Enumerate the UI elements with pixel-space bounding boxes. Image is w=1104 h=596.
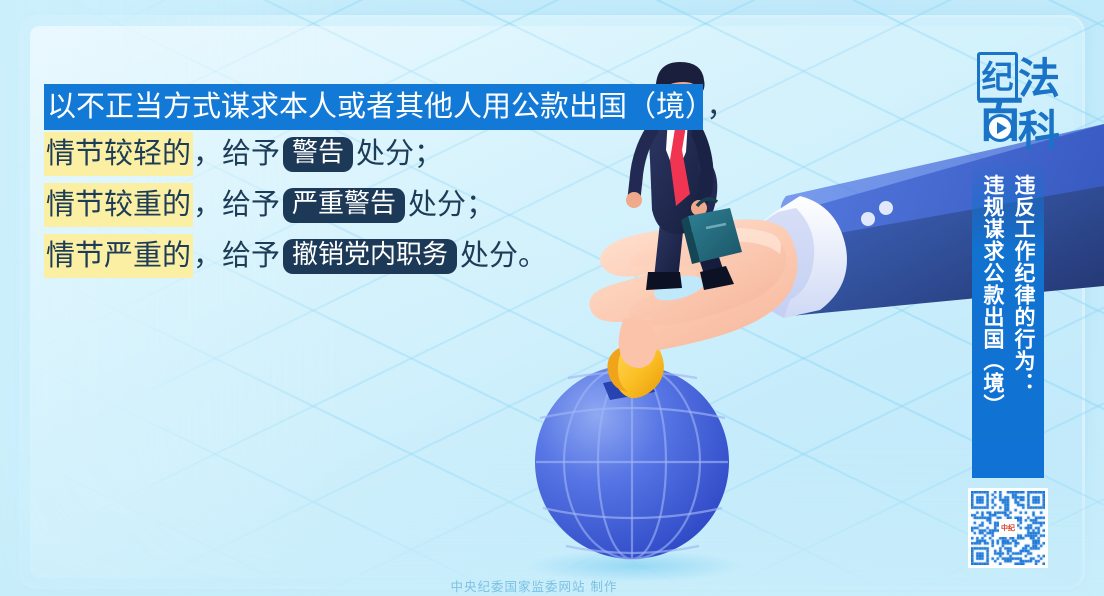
line4-tail: 处分。 [460, 238, 547, 272]
logo-char-fa: 法 [1018, 58, 1060, 100]
qr-seal-icon: 中纪 [999, 519, 1017, 537]
text-line-4: 情节严重的，给予撤销党内职务处分。 [44, 239, 664, 274]
qr-code-matrix: 中纪 [971, 491, 1045, 565]
qr-code[interactable]: 中纪 [968, 488, 1048, 568]
line3-mid: ，给予 [193, 187, 280, 221]
line3-tail: 处分； [408, 187, 495, 221]
vertical-column-topic: 违规谋求公款出国（境） [978, 174, 1007, 470]
main-text-block: 以不正当方式谋求本人或者其他人用公款出国（境）， 情节较轻的，给予警告处分； 情… [44, 92, 664, 274]
play-icon [986, 114, 1014, 142]
penalty-pill-warning: 警告 [283, 137, 353, 172]
penalty-pill-removal: 撤销党内职务 [283, 239, 457, 274]
vertical-column-category: 违反工作纪律的行为： [1009, 174, 1038, 470]
line1-comma: ， [703, 89, 736, 123]
highlight-blue-clause: 以不正当方式谋求本人或者其他人用公款出国（境） [44, 84, 703, 130]
highlight-yellow-2: 情节较轻的 [44, 132, 193, 176]
line4-mid: ，给予 [193, 238, 280, 272]
text-line-2: 情节较轻的，给予警告处分； [44, 137, 664, 172]
line2-mid: ，给予 [193, 136, 280, 170]
vertical-title-panel: 违反工作纪律的行为： 违规谋求公款出国（境） [972, 160, 1044, 478]
credit-line: 中央纪委国家监委网站 制作 [0, 576, 1104, 595]
line2-tail: 处分； [356, 136, 443, 170]
poster-canvas: 以不正当方式谋求本人或者其他人用公款出国（境）， 情节较轻的，给予警告处分； 情… [0, 0, 1104, 596]
penalty-pill-serious-warning: 严重警告 [283, 188, 405, 223]
brand-logo[interactable]: 纪 法 百 科 [974, 52, 1054, 170]
highlight-yellow-4: 情节严重的 [44, 234, 193, 278]
text-line-3: 情节较重的，给予严重警告处分； [44, 188, 664, 223]
highlight-yellow-3: 情节较重的 [44, 183, 193, 227]
text-line-1: 以不正当方式谋求本人或者其他人用公款出国（境）， [44, 92, 664, 121]
logo-char-ke: 科 [1018, 110, 1060, 152]
